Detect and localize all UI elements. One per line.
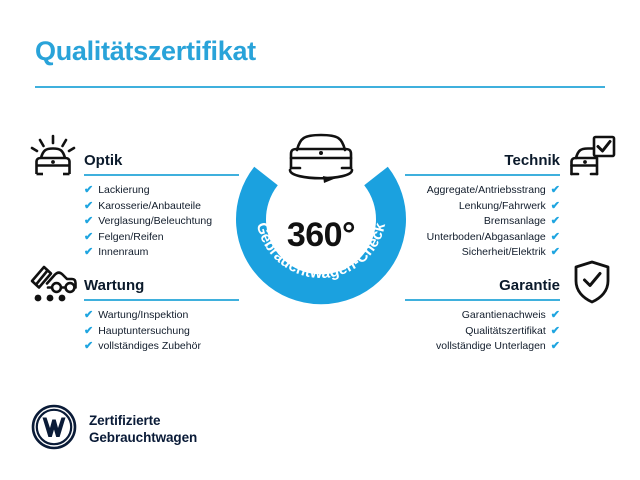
vw-certified-logo: Zertifizierte Gebrauchtwagen (31, 404, 197, 455)
checklist-item-label: Garantienachweis (462, 308, 546, 324)
page-title: Qualitätszertifikat (35, 36, 256, 67)
checklist-item: Bremsanlage✔ (405, 214, 560, 230)
checklist-item-label: Aggregate/Antriebsstrang (427, 183, 546, 199)
checklist-optik: ✔Lackierung✔Karosserie/Anbauteile✔Vergla… (84, 183, 239, 261)
checklist-item: Aggregate/Antriebsstrang✔ (405, 183, 560, 199)
checklist-item: ✔Felgen/Reifen (84, 230, 239, 246)
checklist-item-label: Innenraum (98, 245, 148, 261)
check-icon: ✔ (84, 230, 93, 246)
checklist-wartung: ✔Wartung/Inspektion✔Hauptuntersuchung✔vo… (84, 308, 239, 355)
checklist-item: ✔Karosserie/Anbauteile (84, 199, 239, 215)
section-header-optik: Optik (84, 146, 239, 176)
checklist-item: ✔Hauptuntersuchung (84, 324, 239, 340)
section-garantie: Garantie Garantienachweis✔Qualitätszerti… (405, 271, 560, 355)
checklist-technik: Aggregate/Antriebsstrang✔Lenkung/Fahrwer… (405, 183, 560, 261)
checklist-item-label: Lackierung (98, 183, 149, 199)
check-icon: ✔ (551, 230, 560, 246)
checklist-item: ✔Verglasung/Beleuchtung (84, 214, 239, 230)
section-divider-technik (405, 174, 560, 176)
checklist-item-label: vollständiges Zubehör (98, 339, 201, 355)
checklist-item-label: Wartung/Inspektion (98, 308, 188, 324)
checklist-item-label: Unterboden/Abgasanlage (427, 230, 546, 246)
certificate-page: Qualitätszertifikat (0, 0, 640, 480)
title-divider (35, 86, 605, 88)
checklist-item: Garantienachweis✔ (405, 308, 560, 324)
section-divider-wartung (84, 299, 239, 301)
shield-check-icon (572, 259, 612, 310)
section-header-technik: Technik (405, 146, 560, 176)
check-icon: ✔ (84, 308, 93, 324)
check-icon: ✔ (551, 199, 560, 215)
checklist-item-label: Felgen/Reifen (98, 230, 163, 246)
vw-logo-words: Zertifizierte Gebrauchtwagen (89, 413, 197, 446)
checklist-item-label: Bremsanlage (484, 214, 546, 230)
section-wartung: Wartung ✔Wartung/Inspektion✔Hauptuntersu… (84, 271, 239, 355)
checklist-item: vollständige Unterlagen✔ (405, 339, 560, 355)
check-icon: ✔ (551, 308, 560, 324)
checklist-item: ✔vollständiges Zubehör (84, 339, 239, 355)
vw-logo-line1: Zertifizierte (89, 413, 197, 430)
section-title-optik: Optik (84, 152, 122, 169)
checklist-item-label: Karosserie/Anbauteile (98, 199, 201, 215)
car-checkbox-icon (566, 134, 616, 185)
checklist-item: ✔Innenraum (84, 245, 239, 261)
car-service-pen-icon (26, 259, 78, 310)
section-header-wartung: Wartung (84, 271, 239, 301)
badge-center-label: 360° (226, 216, 416, 255)
check-icon: ✔ (551, 324, 560, 340)
check-icon: ✔ (551, 339, 560, 355)
section-optik: Optik ✔Lackierung✔Karosserie/Anbauteile✔… (84, 146, 239, 261)
car-shine-icon (28, 134, 78, 185)
check-icon: ✔ (551, 214, 560, 230)
checklist-item-label: Sicherheit/Elektrik (462, 245, 546, 261)
checklist-item: Unterboden/Abgasanlage✔ (405, 230, 560, 246)
section-divider-garantie (405, 299, 560, 301)
checklist-garantie: Garantienachweis✔Qualitätszertifikat✔vol… (405, 308, 560, 355)
checklist-item: Lenkung/Fahrwerk✔ (405, 199, 560, 215)
360-check-badge: Gebrauchtwagen-Check 360° (226, 118, 416, 308)
vw-logo-line2: Gebrauchtwagen (89, 430, 197, 447)
checklist-item: Qualitätszertifikat✔ (405, 324, 560, 340)
check-icon: ✔ (84, 183, 93, 199)
checklist-item-label: vollständige Unterlagen (436, 339, 546, 355)
section-title-garantie: Garantie (499, 277, 560, 294)
section-technik: Technik Aggregate/Antriebsstrang✔Lenkung… (405, 146, 560, 261)
checklist-item: ✔Lackierung (84, 183, 239, 199)
checklist-item: Sicherheit/Elektrik✔ (405, 245, 560, 261)
check-icon: ✔ (84, 324, 93, 340)
section-divider-optik (84, 174, 239, 176)
check-icon: ✔ (84, 245, 93, 261)
check-icon: ✔ (551, 183, 560, 199)
section-title-technik: Technik (504, 152, 560, 169)
checklist-item-label: Qualitätszertifikat (465, 324, 546, 340)
check-icon: ✔ (551, 245, 560, 261)
checklist-item-label: Verglasung/Beleuchtung (98, 214, 212, 230)
check-icon: ✔ (84, 339, 93, 355)
check-icon: ✔ (84, 214, 93, 230)
section-title-wartung: Wartung (84, 277, 144, 294)
check-icon: ✔ (84, 199, 93, 215)
section-header-garantie: Garantie (405, 271, 560, 301)
checklist-item: ✔Wartung/Inspektion (84, 308, 239, 324)
checklist-item-label: Lenkung/Fahrwerk (459, 199, 546, 215)
vw-logo-icon (31, 404, 77, 455)
checklist-item-label: Hauptuntersuchung (98, 324, 190, 340)
